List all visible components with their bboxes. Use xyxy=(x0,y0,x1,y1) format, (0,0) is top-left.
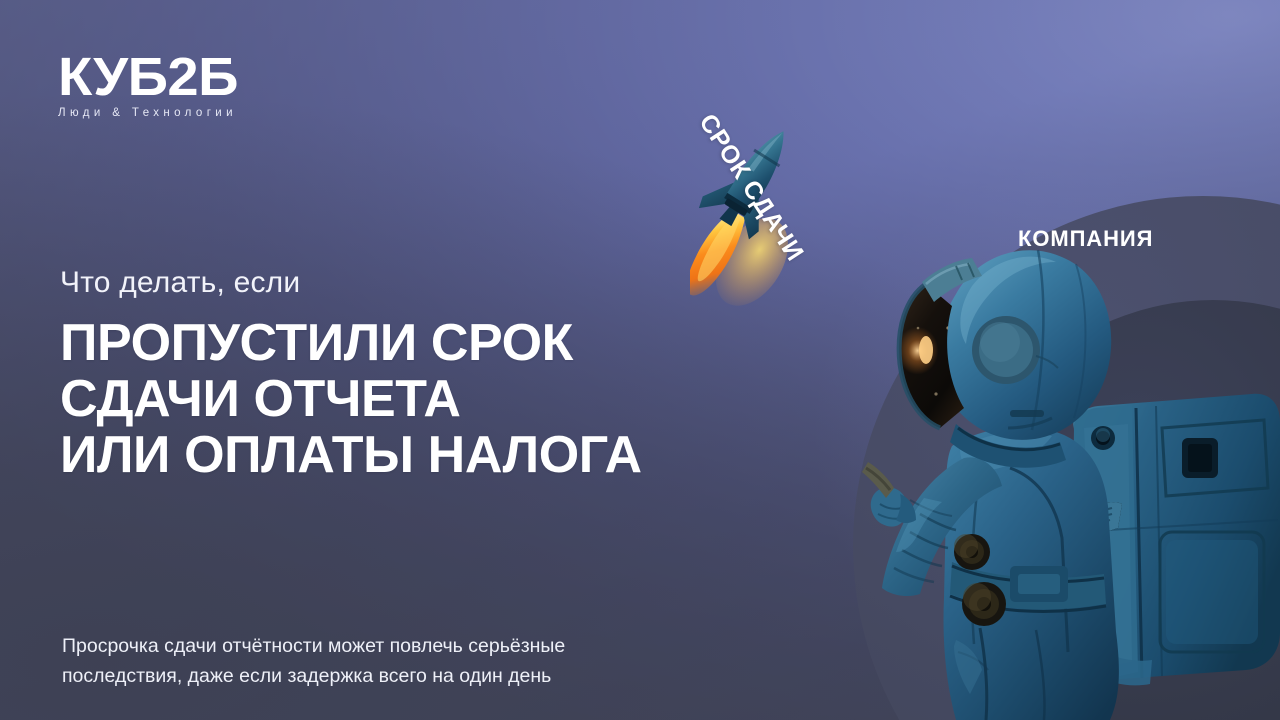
headline-line-3: ИЛИ ОПЛАТЫ НАЛОГА xyxy=(60,428,700,484)
headline-block: Что делать, если ПРОПУСТИЛИ СРОК СДАЧИ О… xyxy=(60,266,700,484)
astronaut-icon xyxy=(860,232,1280,720)
subtitle-line-1: Просрочка сдачи отчётности может повлечь… xyxy=(62,632,702,662)
promo-slide: КУБ2Б Люди & Технологии xyxy=(0,0,1280,720)
subtitle-line-2: последствия, даже если задержка всего на… xyxy=(62,662,702,692)
brand-tagline: Люди & Технологии xyxy=(58,107,318,119)
brand-logo[interactable]: КУБ2Б Люди & Технологии xyxy=(58,52,318,119)
headline-line-1: ПРОПУСТИЛИ СРОК xyxy=(60,316,700,372)
subtitle-block: Просрочка сдачи отчётности может повлечь… xyxy=(62,632,702,691)
headline-line-2: СДАЧИ ОТЧЕТА xyxy=(60,372,700,428)
brand-logo-text: КУБ2Б xyxy=(58,52,328,104)
headline-kicker: Что делать, если xyxy=(60,266,700,299)
